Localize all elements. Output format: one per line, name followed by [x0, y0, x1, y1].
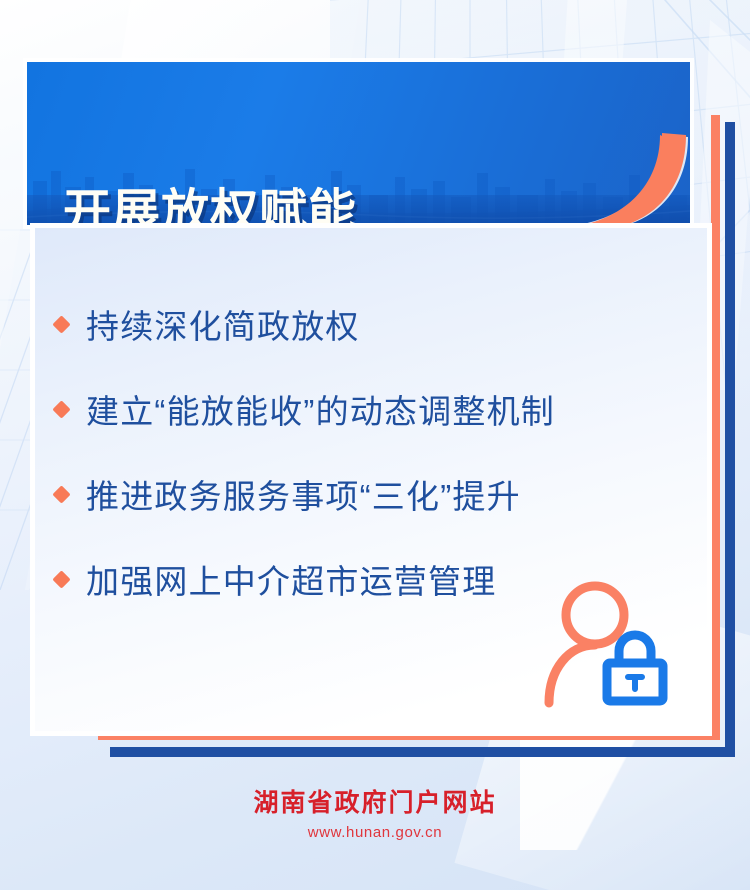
site-name: 湖南省政府门户网站 — [0, 790, 750, 818]
list-item: 持续深化简政放权 — [53, 296, 693, 352]
footer: 湖南省政府门户网站 www.hunan.gov.cn — [0, 790, 750, 841]
header-banner: 开展放权赋能 精准化精细化行动 — [27, 62, 690, 225]
page-title-line-1: 开展放权赋能 — [63, 185, 455, 225]
list-item: 推进政务服务事项“三化”提升 — [53, 466, 693, 522]
user-lock-icon — [543, 577, 675, 709]
list-item-label: 建立“能放能收”的动态调整机制 — [86, 385, 555, 433]
poster-canvas: 开展放权赋能 精准化精细化行动 持续深化简政放权 建立“能放能收”的动态调整机制… — [0, 0, 750, 890]
page-title: 开展放权赋能 精准化精细化行动 — [63, 76, 455, 225]
site-url[interactable]: www.hunan.gov.cn — [0, 824, 750, 841]
list-item-label: 加强网上中介超市运营管理 — [86, 555, 496, 603]
banner-accent-swoosh — [560, 127, 690, 225]
list-item-label: 持续深化简政放权 — [86, 300, 360, 348]
diamond-bullet-icon — [52, 570, 70, 588]
diamond-bullet-icon — [52, 485, 70, 503]
list-item-label: 推进政务服务事项“三化”提升 — [86, 470, 521, 518]
content-card: 持续深化简政放权 建立“能放能收”的动态调整机制 推进政务服务事项“三化”提升 … — [35, 228, 707, 731]
list-item: 建立“能放能收”的动态调整机制 — [53, 381, 693, 437]
diamond-bullet-icon — [52, 315, 70, 333]
diamond-bullet-icon — [52, 400, 70, 418]
